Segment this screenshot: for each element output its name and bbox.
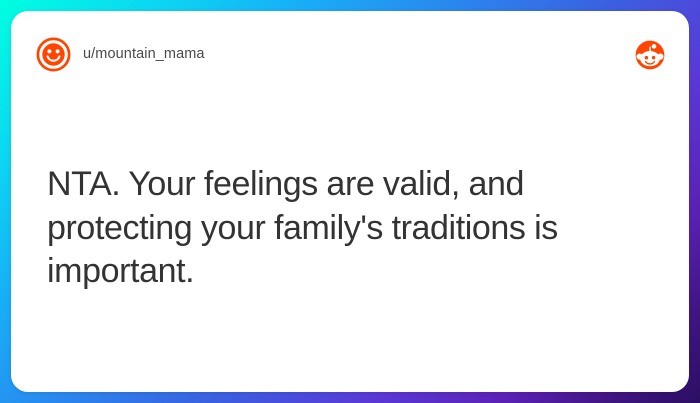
card-header: u/mountain_mama (11, 11, 689, 103)
author-username: u/mountain_mama (83, 47, 205, 62)
avatar[interactable] (36, 37, 71, 72)
comment-body-text: NTA. Your feelings are valid, and protec… (47, 163, 647, 294)
reddit-snoo-logo-icon[interactable] (635, 40, 665, 70)
reddit-comment-card: u/mountain_mama NTA. Your feelings are v… (11, 11, 689, 392)
smiley-face-avatar-icon (36, 37, 71, 72)
author-block[interactable]: u/mountain_mama (36, 37, 205, 72)
screenshot-canvas: u/mountain_mama NTA. Your feelings are v… (0, 0, 700, 403)
